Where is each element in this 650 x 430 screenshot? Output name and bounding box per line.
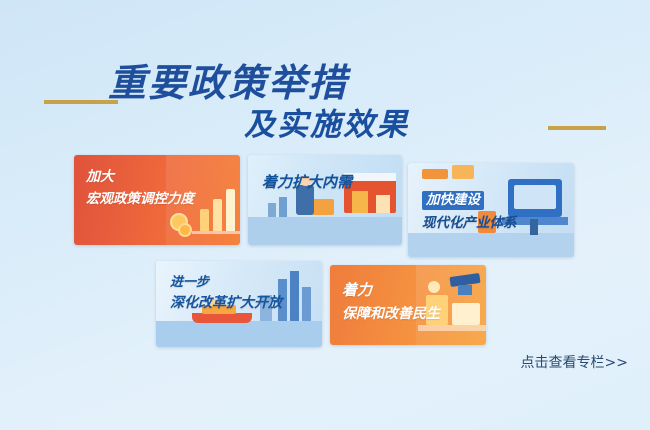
card3-crate-1 (422, 169, 448, 179)
card4-ship-hull (192, 313, 252, 323)
card2-label-line1: 着力扩大内需 (262, 173, 352, 192)
card5-label: 着力 保障和改善民生 (342, 281, 440, 323)
card4-bar-3 (302, 287, 311, 321)
card2-bar-1 (268, 203, 276, 217)
card3-crate-2 (452, 165, 474, 179)
card4-bar-2 (290, 271, 299, 321)
card1-bar-3 (226, 189, 235, 231)
card3-robot-arm (530, 219, 538, 235)
card-peoples-livelihood[interactable]: 着力 保障和改善民生 (330, 265, 486, 345)
card1-bar-2 (213, 199, 222, 231)
card2-label: 着力扩大内需 (262, 173, 352, 192)
card1-label: 加大 宏观政策调控力度 (86, 169, 194, 207)
card1-coin-small-icon (178, 223, 192, 237)
card1-label-line1: 加大 (86, 169, 194, 187)
card2-window (376, 195, 390, 213)
card5-label-line2: 保障和改善民生 (342, 306, 440, 324)
card2-door (352, 191, 368, 213)
card-macro-policy[interactable]: 加大 宏观政策调控力度 (74, 155, 240, 245)
card5-cap-base (458, 285, 472, 295)
card5-baseline (418, 325, 486, 331)
card1-label-line2: 宏观政策调控力度 (86, 191, 194, 208)
title-rule-right (548, 126, 606, 130)
card3-machine-screen (514, 185, 556, 209)
card3-label: 加快建设 现代化产业体系 (422, 191, 517, 232)
card2-bar-2 (279, 197, 287, 217)
view-column-link[interactable]: 点击查看专栏>> (521, 352, 628, 372)
card4-water (156, 321, 322, 347)
card4-label-line2: 深化改革扩大开放 (170, 295, 282, 313)
card2-ground (248, 217, 402, 245)
card1-baseline (192, 231, 240, 234)
card-domestic-demand[interactable]: 着力扩大内需 (248, 155, 402, 245)
card-reform-opening[interactable]: 进一步 深化改革扩大开放 (156, 261, 322, 347)
card4-label-line1: 进一步 (170, 275, 282, 291)
card3-ground (408, 233, 574, 257)
card3-label-line2: 现代化产业体系 (422, 215, 517, 232)
title-rule-left (44, 100, 118, 104)
card1-bar-1 (200, 209, 209, 231)
card5-label-line1: 着力 (342, 281, 440, 300)
page-title-line2: 及实施效果 (244, 99, 409, 144)
card5-house (452, 303, 480, 325)
card3-label-line1: 加快建设 (422, 191, 484, 210)
card-modern-industry[interactable]: 加快建设 现代化产业体系 (408, 163, 574, 257)
banner-title-block: 重要政策举措 及实施效果 (0, 52, 650, 152)
card4-label: 进一步 深化改革扩大开放 (170, 275, 282, 313)
